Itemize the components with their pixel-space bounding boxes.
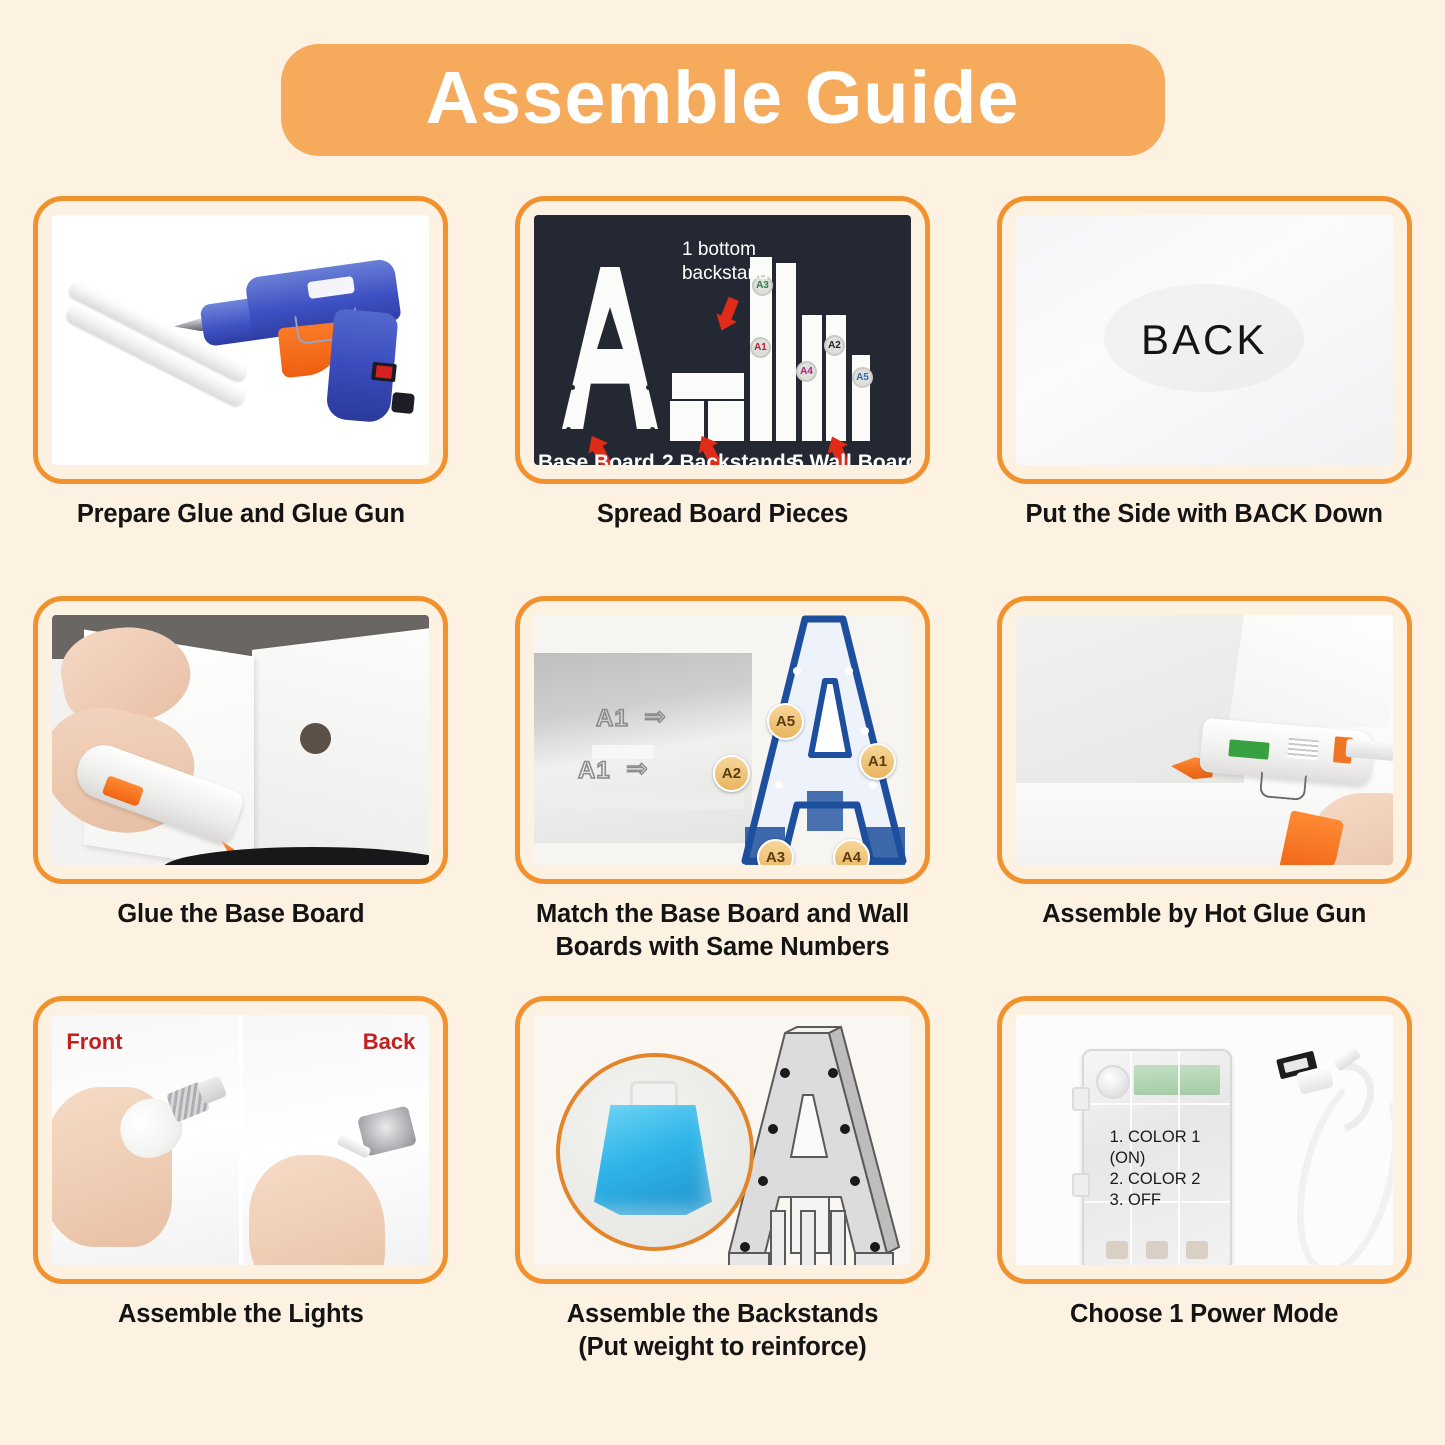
badge-label: A1 [868,753,887,770]
step-cell-3: BACK Put the Side with BACK Down [963,196,1445,596]
engraved-label-a1: A1 [596,705,629,733]
step-cell-7: Front Back [0,996,482,1396]
label-front: Front [66,1029,122,1055]
letter-badge-a5: A5 [767,703,804,740]
step-5-frame: A1 ⇒ A1 ⇒ [515,596,930,884]
power-mode-list: 1. COLOR 1 (ON) 2. COLOR 2 3. OFF [1110,1127,1230,1211]
badge-label: A5 [856,372,869,383]
back-board-text: BACK [1141,316,1267,364]
badge-label: A2 [828,340,841,351]
step-5-image: A1 ⇒ A1 ⇒ [534,615,911,865]
wall-board [776,263,796,441]
step-cell-1: Prepare Glue and Glue Gun [0,196,482,596]
step-6-frame [997,596,1412,884]
arrow-right-icon: ⇒ [626,753,648,784]
step-2-caption: Spread Board Pieces [507,498,937,531]
step-1-image [52,215,429,465]
step-3-frame: BACK [997,196,1412,484]
back-view-photo: Back [241,1015,430,1265]
step-3-image: BACK [1016,215,1393,465]
glue-gun-brand-label [1228,739,1269,759]
wall-board-photo [252,628,429,865]
bottom-backstand-note-line1: 1 bottom [682,239,756,261]
letter-a-svg [731,615,911,865]
page-title: Assemble Guide [343,58,1103,138]
board-badge-a2: A2 [824,335,845,356]
bottom-backstand-note-line2: backstand [682,263,769,285]
weight-bag-inset-photo [556,1053,754,1251]
glue-gun-vents-icon [1287,738,1319,761]
step-4-image [52,615,429,865]
backstand-piece [670,401,704,441]
title-pill: Assemble Guide [281,44,1165,156]
step-8-frame [515,996,930,1284]
step-8-caption: Assemble the Backstands (Put weight to r… [507,1298,937,1363]
step-8-caption-line2: (Put weight to reinforce) [507,1331,937,1364]
step-4-caption: Glue the Base Board [26,898,456,931]
step-cell-8: Assemble the Backstands (Put weight to r… [482,996,964,1396]
battery-box-tab [1072,1087,1090,1111]
glue-gun-wire-hook-icon [1259,771,1307,801]
circuit-board [1134,1065,1220,1095]
badge-label: A2 [722,765,741,782]
battery-box-tab [1072,1173,1090,1197]
step-7-frame: Front Back [33,996,448,1284]
step-5-caption-line1: Match the Base Board and Wall [507,898,937,931]
step-3-caption: Put the Side with BACK Down [989,498,1419,531]
label-backstands: 2 Backstands [662,451,797,465]
assemble-guide-page: Assemble Guide [0,0,1445,1445]
step-8-caption-line1: Assemble the Backstands [507,1298,937,1331]
engraved-board-photo: A1 ⇒ A1 ⇒ [534,653,752,843]
glue-gun-switch-icon [371,362,397,382]
step-2-image: A3 A1 A4 A2 A5 1 bottom backstand [534,215,911,465]
front-view-photo: Front [52,1015,241,1265]
step-5-caption-line2: Boards with Same Numbers [507,931,937,964]
step-cell-2: A3 A1 A4 A2 A5 1 bottom backstand [482,196,964,596]
water-bag-icon [594,1105,712,1215]
page-title-banner: Assemble Guide [0,44,1445,156]
step-1-frame [33,196,448,484]
board-badge-a4: A4 [796,361,817,382]
step-7-image: Front Back [52,1015,429,1265]
board-badge-a1: A1 [750,337,771,358]
wall-board [826,315,846,441]
badge-label: A4 [800,366,813,377]
letter-badge-a1: A1 [859,743,896,780]
arrow-right-icon: ⇒ [644,701,666,732]
badge-label: A3 [766,849,785,865]
label-back: Back [363,1029,416,1055]
step-cell-4: Glue the Base Board [0,596,482,996]
steps-grid: Prepare Glue and Glue Gun [0,196,1445,1396]
step-5-caption: Match the Base Board and Wall Boards wit… [507,898,937,963]
step-9-image: 1. COLOR 1 (ON) 2. COLOR 2 3. OFF [1016,1015,1393,1265]
glue-gun-cap-icon [391,392,415,414]
step-cell-9: 1. COLOR 1 (ON) 2. COLOR 2 3. OFF Choose… [963,996,1445,1396]
step-8-image [534,1015,911,1265]
step-9-frame: 1. COLOR 1 (ON) 2. COLOR 2 3. OFF [997,996,1412,1284]
engraved-label-a1: A1 [578,757,611,785]
battery-box: 1. COLOR 1 (ON) 2. COLOR 2 3. OFF [1082,1049,1232,1265]
label-wall-boards: 5 Wall Boards [792,451,911,465]
step-6-caption: Assemble by Hot Glue Gun [989,898,1419,931]
step-cell-5: A1 ⇒ A1 ⇒ [482,596,964,996]
badge-label: A1 [754,342,767,353]
step-cell-6: Assemble by Hot Glue Gun [963,596,1445,996]
letter-badge-a2: A2 [713,755,750,792]
board-panel [1228,615,1393,727]
hand-icon [249,1155,385,1265]
step-9-caption: Choose 1 Power Mode [989,1298,1419,1331]
label-base-board: Base Board [538,451,655,465]
photo-divider [239,1015,243,1265]
letter-a-diagram: A5 A2 A1 A3 A4 [731,615,911,865]
step-1-caption: Prepare Glue and Glue Gun [26,498,456,531]
step-6-image [1016,615,1393,865]
power-button-icon[interactable] [1096,1065,1130,1099]
step-2-frame: A3 A1 A4 A2 A5 1 bottom backstand [515,196,930,484]
backstand-piece [672,373,744,399]
badge-label: A5 [776,713,795,730]
step-7-caption: Assemble the Lights [26,1298,456,1331]
board-badge-a5: A5 [852,367,873,388]
step-4-frame [33,596,448,884]
badge-label: A4 [842,849,861,865]
